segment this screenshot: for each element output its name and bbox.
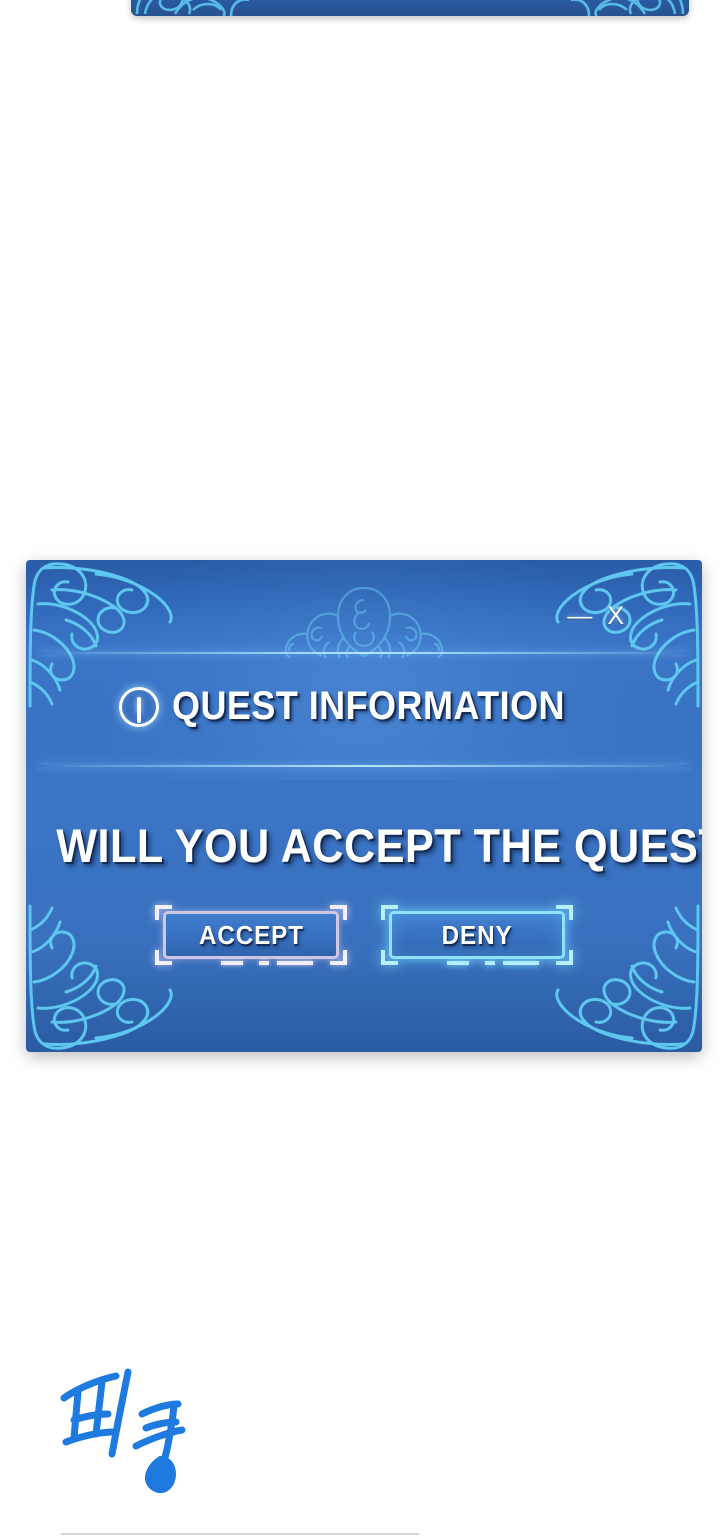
bottom-divider [61, 1533, 419, 1535]
accept-button-face: ACCEPT [163, 911, 339, 959]
divider-top [38, 652, 690, 654]
bracket-tick [259, 961, 269, 965]
close-button[interactable]: X [607, 604, 624, 629]
accept-button-label: ACCEPT [198, 920, 303, 951]
previous-dialog-sliver [131, 0, 689, 16]
signature-loop [147, 1458, 174, 1491]
divider-bottom [38, 765, 690, 767]
minimize-button[interactable]: — [567, 604, 591, 629]
bracket-tick [221, 961, 243, 965]
bracket-tick [503, 961, 539, 965]
deny-button[interactable]: DENY [381, 905, 573, 965]
artist-signature [56, 1362, 216, 1502]
exclamation-circle-icon [119, 687, 159, 727]
corner-ornament-icon [131, 0, 251, 16]
dialog-header: QUEST INFORMATION [26, 684, 702, 729]
dialog-button-row: ACCEPT DENY [26, 905, 702, 965]
accept-button[interactable]: ACCEPT [155, 905, 347, 965]
bracket-tick [277, 961, 313, 965]
deny-button-face: DENY [389, 911, 565, 959]
deny-button-label: DENY [442, 920, 513, 951]
window-controls: — X [567, 604, 624, 629]
quest-prompt-text: WILL YOU ACCEPT THE QUEST? [26, 818, 702, 873]
dialog-title: QUEST INFORMATION [172, 684, 565, 729]
corner-ornament-icon [569, 0, 689, 16]
bracket-tick [447, 961, 469, 965]
header-glow [104, 560, 624, 780]
exclamation-mark [137, 697, 141, 714]
crown-ornament-icon [278, 582, 450, 658]
quest-information-dialog: — X QUEST INFORMATION WILL YOU ACCEPT TH… [26, 560, 702, 1052]
quest-prompt-label: WILL YOU ACCEPT THE QUEST? [56, 818, 702, 873]
bracket-tick [485, 961, 495, 965]
